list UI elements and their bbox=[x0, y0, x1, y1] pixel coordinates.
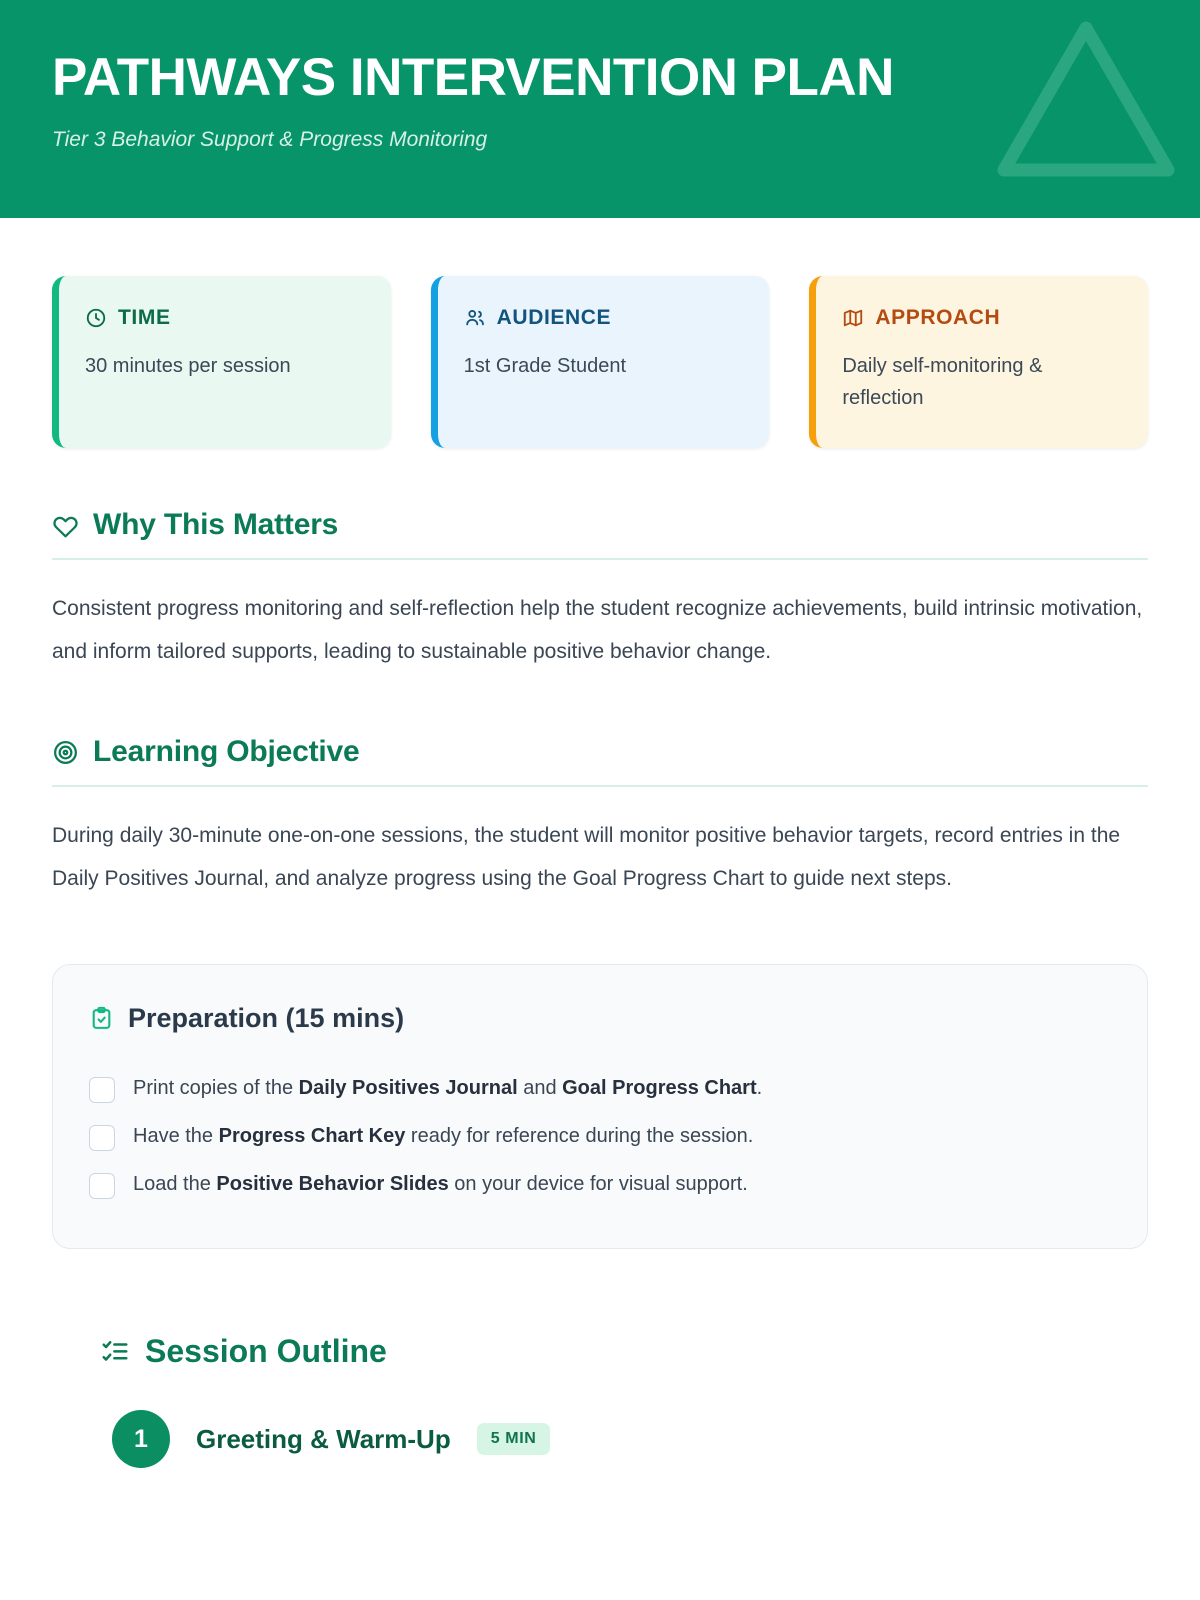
preparation-item[interactable]: Print copies of the Daily Positives Jour… bbox=[89, 1064, 1111, 1112]
section-why-body: Consistent progress monitoring and self-… bbox=[52, 587, 1148, 673]
section-why-header: Why This Matters bbox=[52, 508, 1148, 542]
section-why-divider bbox=[52, 558, 1148, 560]
heart-icon bbox=[52, 512, 79, 539]
page-title: PATHWAYS INTERVENTION PLAN bbox=[52, 46, 1140, 110]
checkbox[interactable] bbox=[89, 1125, 115, 1151]
info-card-approach-label: APPROACH bbox=[875, 306, 1000, 330]
section-why-heading: Why This Matters bbox=[93, 508, 338, 542]
section-objective-body: During daily 30-minute one-on-one sessio… bbox=[52, 814, 1148, 900]
session-outline-heading: Session Outline bbox=[145, 1333, 387, 1370]
checkbox[interactable] bbox=[89, 1077, 115, 1103]
info-card-time-value: 30 minutes per session bbox=[85, 350, 365, 382]
session-step-duration-badge: 5 MIN bbox=[477, 1423, 551, 1455]
preparation-item[interactable]: Load the Positive Behavior Slides on you… bbox=[89, 1160, 1111, 1208]
info-cards: TIME 30 minutes per session AUDIENCE 1st… bbox=[0, 218, 1200, 448]
preparation-box: Preparation (15 mins) Print copies of th… bbox=[52, 964, 1148, 1249]
list-checks-icon bbox=[100, 1337, 130, 1367]
section-learning-objective: Learning Objective During daily 30-minut… bbox=[0, 673, 1200, 900]
info-card-audience-value: 1st Grade Student bbox=[464, 350, 744, 382]
section-objective-header: Learning Objective bbox=[52, 735, 1148, 769]
session-step-number: 1 bbox=[112, 1410, 170, 1468]
section-objective-heading: Learning Objective bbox=[93, 735, 359, 769]
clipboard-check-icon bbox=[89, 1006, 114, 1031]
preparation-header: Preparation (15 mins) bbox=[89, 1003, 1111, 1034]
preparation-item-label: Have the Progress Chart Key ready for re… bbox=[133, 1121, 753, 1151]
preparation-item-label: Load the Positive Behavior Slides on you… bbox=[133, 1169, 748, 1199]
info-card-approach: APPROACH Daily self-monitoring & reflect… bbox=[809, 276, 1148, 448]
page-header: PATHWAYS INTERVENTION PLAN Tier 3 Behavi… bbox=[0, 0, 1200, 218]
session-step-title: Greeting & Warm-Up bbox=[196, 1424, 451, 1455]
session-steps: 1Greeting & Warm-Up5 MIN bbox=[100, 1410, 1148, 1468]
session-outline-header: Session Outline bbox=[100, 1333, 1148, 1370]
page-subtitle: Tier 3 Behavior Support & Progress Monit… bbox=[52, 126, 1140, 154]
checkbox[interactable] bbox=[89, 1173, 115, 1199]
info-card-time-label: TIME bbox=[118, 306, 171, 330]
session-outline-section: Session Outline 1Greeting & Warm-Up5 MIN bbox=[0, 1249, 1200, 1468]
info-card-audience: AUDIENCE 1st Grade Student bbox=[431, 276, 770, 448]
info-card-approach-header: APPROACH bbox=[842, 306, 1122, 330]
section-why-this-matters: Why This Matters Consistent progress mon… bbox=[0, 448, 1200, 673]
map-icon bbox=[842, 307, 864, 329]
clock-icon bbox=[85, 307, 107, 329]
session-step[interactable]: 1Greeting & Warm-Up5 MIN bbox=[100, 1410, 1148, 1468]
section-objective-divider bbox=[52, 785, 1148, 787]
info-card-approach-value: Daily self-monitoring & reflection bbox=[842, 350, 1122, 414]
target-icon bbox=[52, 739, 79, 766]
users-icon bbox=[464, 307, 486, 329]
preparation-item-label: Print copies of the Daily Positives Jour… bbox=[133, 1073, 762, 1103]
preparation-checklist: Print copies of the Daily Positives Jour… bbox=[89, 1064, 1111, 1208]
info-card-audience-header: AUDIENCE bbox=[464, 306, 744, 330]
preparation-section: Preparation (15 mins) Print copies of th… bbox=[0, 900, 1200, 1249]
preparation-item[interactable]: Have the Progress Chart Key ready for re… bbox=[89, 1112, 1111, 1160]
info-card-time-header: TIME bbox=[85, 306, 365, 330]
info-card-audience-label: AUDIENCE bbox=[497, 306, 611, 330]
preparation-heading: Preparation (15 mins) bbox=[128, 1003, 404, 1034]
info-card-time: TIME 30 minutes per session bbox=[52, 276, 391, 448]
